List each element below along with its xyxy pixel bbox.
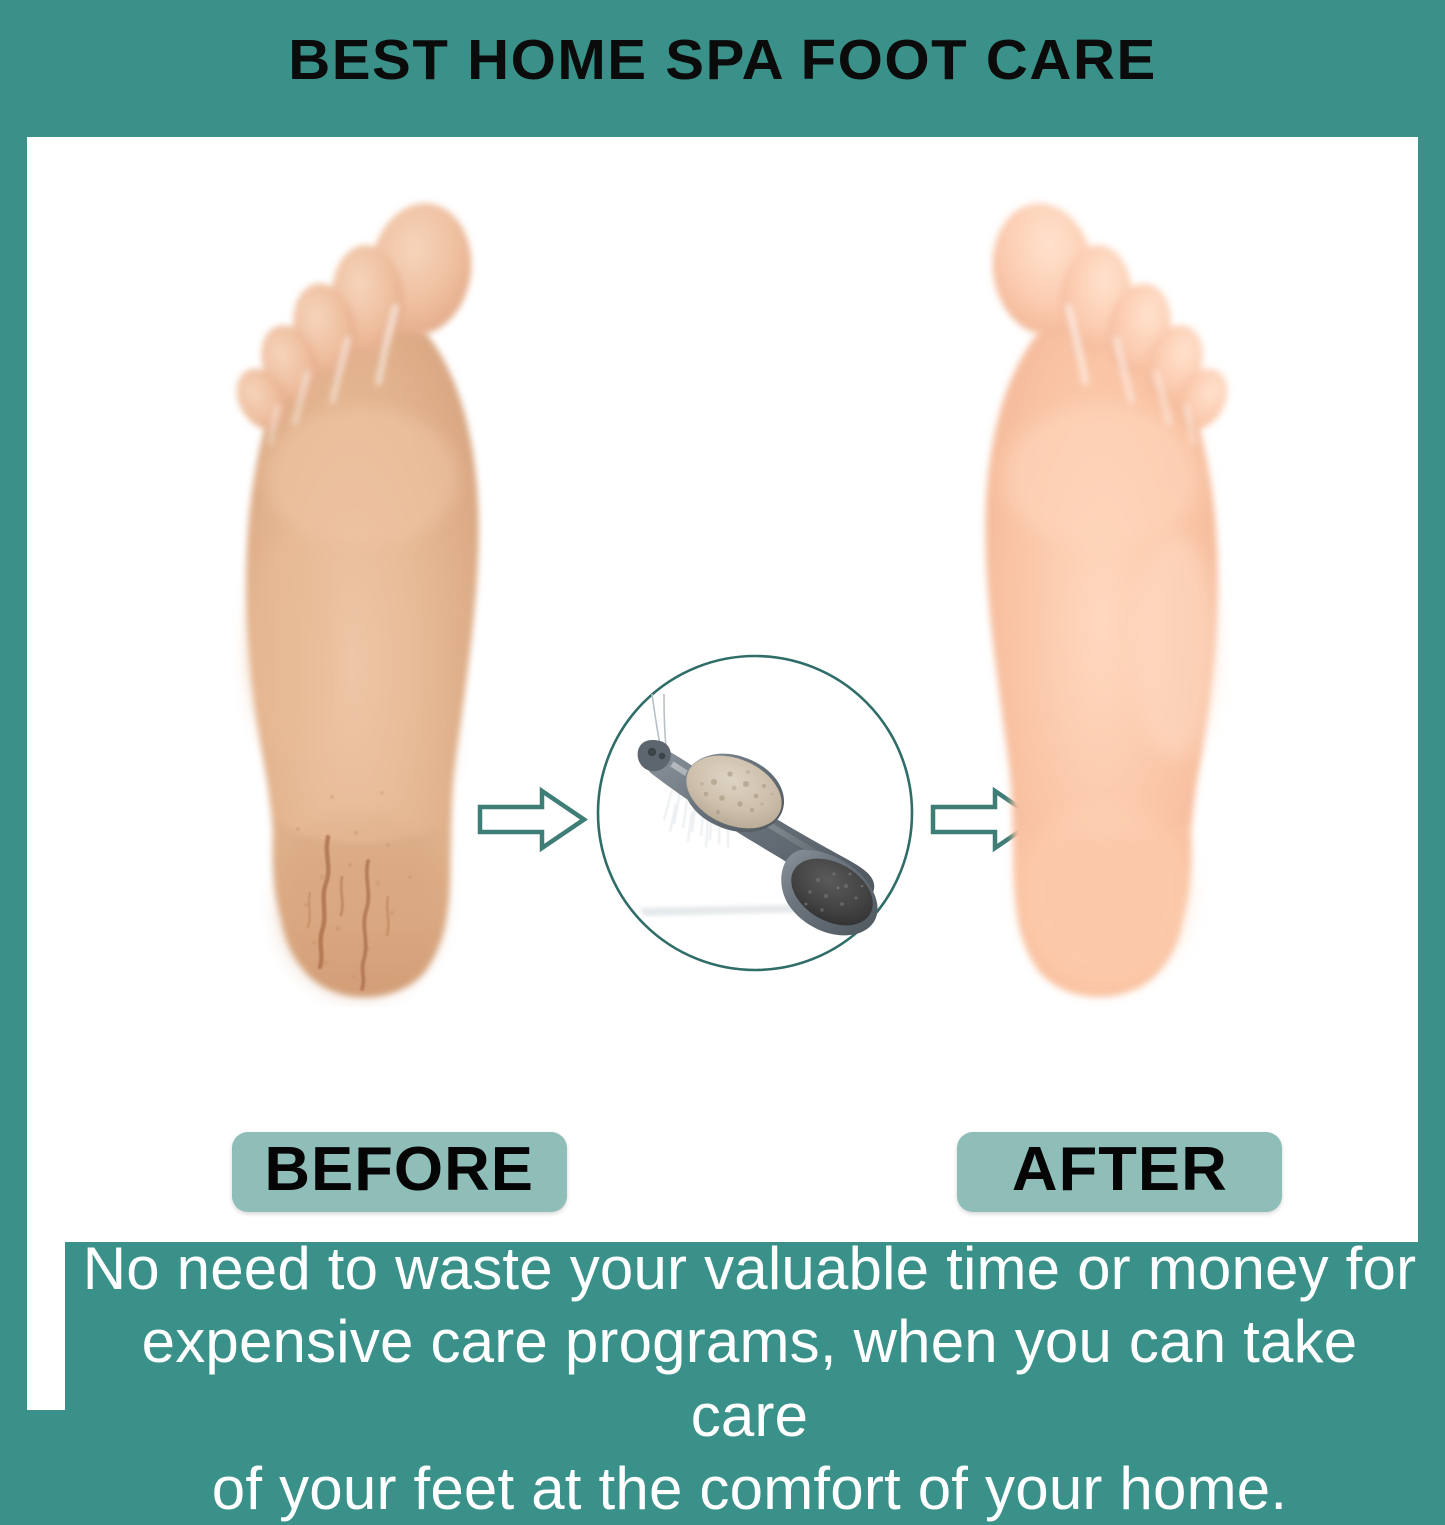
poster-root: BEST HOME SPA FOOT CARE [0,0,1445,1445]
caption-text: No need to waste your valuable time or m… [81,1232,1418,1525]
caption-line-3: of your feet at the comfort of your home… [212,1455,1287,1522]
page-title: BEST HOME SPA FOOT CARE [0,32,1445,89]
arrow-right-icon [472,777,592,862]
badge-before: BEFORE [232,1132,567,1212]
caption-line-2: expensive care programs, when you can ta… [142,1308,1358,1448]
content-panel: BEFORE AFTER No need to waste your valua… [27,137,1418,1410]
foot-cracked-heel-icon [182,177,532,1007]
product-circle [594,652,916,974]
caption-line-1: No need to waste your valuable time or m… [83,1235,1417,1302]
before-foot-image [182,177,532,1007]
badge-after: AFTER [957,1132,1282,1212]
arrow-before-to-product [472,777,592,862]
caption-block: No need to waste your valuable time or m… [65,1242,1434,1515]
badge-before-label: BEFORE [265,1139,535,1201]
foot-file-tool-icon [594,652,916,974]
foot-smooth-heel-icon [932,177,1282,1007]
after-foot-image [932,177,1282,1007]
badge-after-label: AFTER [1012,1139,1228,1201]
